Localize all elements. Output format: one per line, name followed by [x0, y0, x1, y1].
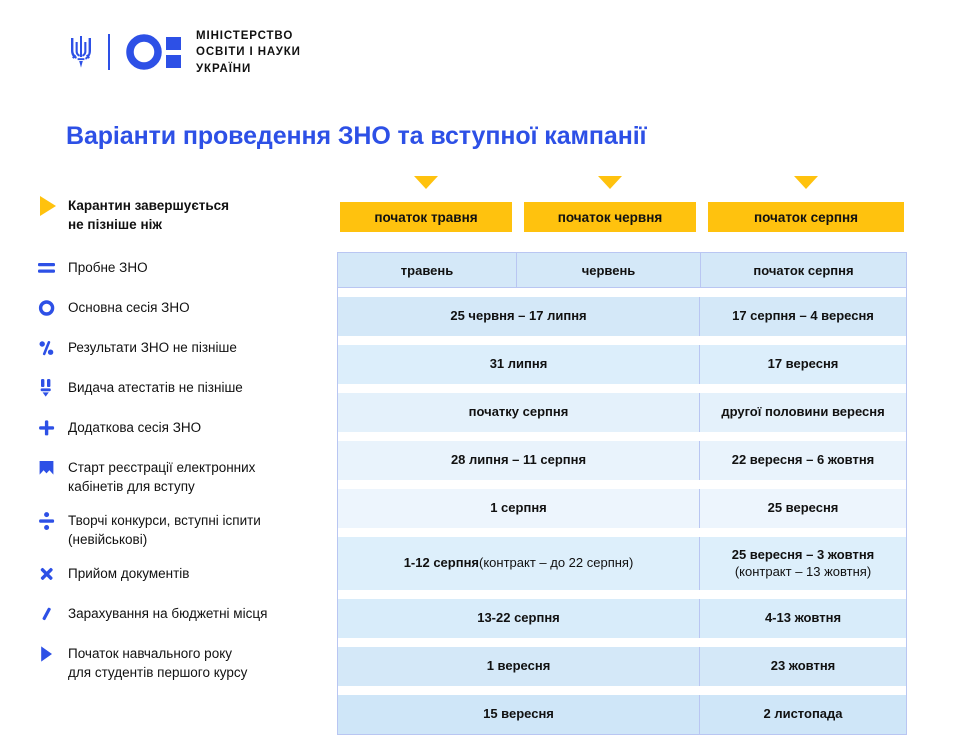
- row-spacer: [338, 288, 906, 297]
- legend-item-cabinet-registration[interactable]: Старт реєстрації електронних кабінетів д…: [38, 458, 330, 496]
- row-spacer: [338, 590, 906, 599]
- legend-item-results[interactable]: Результати ЗНО не пізніше: [38, 338, 330, 358]
- logo-divider: [108, 34, 110, 70]
- table-row: 13-22 серпня4-13 жовтня: [338, 599, 906, 638]
- legend-item-budget-enrollment[interactable]: Зарахування на бюджетні місця: [38, 604, 330, 624]
- legend-item-label: Основна сесія ЗНО: [68, 298, 190, 318]
- table-row: 1-12 серпня (контракт – до 22 серпня)25 …: [338, 537, 906, 590]
- cell-august: 2 листопада: [700, 695, 906, 734]
- row-spacer: [338, 480, 906, 489]
- column-header-june: червень: [517, 253, 700, 287]
- cell-may-june: 1 вересня: [338, 647, 700, 686]
- legend-item-certificates[interactable]: Видача атестатів не пізніше: [38, 378, 330, 398]
- legend-item-additional-session[interactable]: Додаткова сесія ЗНО: [38, 418, 330, 438]
- ministry-name: МІНІСТЕРСТВО ОСВІТИ І НАУКИ УКРАЇНИ: [196, 28, 301, 77]
- cell-august: 23 жовтня: [700, 647, 906, 686]
- legend-item-label: Додаткова сесія ЗНО: [68, 418, 201, 438]
- mon-emblem-icon: [126, 34, 182, 70]
- cell-may-june: початку серпня: [338, 393, 700, 432]
- legend-item-label: Початок навчального року для студентів п…: [68, 644, 247, 682]
- row-spacer: [338, 432, 906, 441]
- table-row: 1 вересня23 жовтня: [338, 647, 906, 686]
- table-header-row: травень червень початок серпня: [338, 253, 906, 288]
- legend-item-documents-intake[interactable]: Прийом документів: [38, 564, 330, 584]
- cell-may-june: 31 липня: [338, 345, 700, 384]
- cell-august: 25 вересня – 3 жовтня(контракт – 13 жовт…: [700, 537, 906, 590]
- legend-item-creative-exams[interactable]: Творчі конкурси, вступні іспити (невійсь…: [38, 511, 330, 549]
- cell-august: 17 вересня: [700, 345, 906, 384]
- legend-heading-label: Карантин завершується не пізніше ніж: [68, 196, 229, 234]
- row-spacer: [338, 638, 906, 647]
- table-row: 31 липня17 вересня: [338, 345, 906, 384]
- cell-august: другої половини вересня: [700, 393, 906, 432]
- scenario-button-june[interactable]: початок червня: [524, 202, 696, 232]
- table-body: 25 червня – 17 липня17 серпня – 4 вересн…: [338, 288, 906, 734]
- legend-item-trial-zno[interactable]: Пробне ЗНО: [38, 258, 330, 278]
- triangle-right-yellow-icon: [38, 196, 68, 216]
- table-row: 1 серпня25 вересня: [338, 489, 906, 528]
- flag-icon: [38, 458, 68, 478]
- column-header-august: початок серпня: [700, 253, 906, 287]
- percent-icon: [38, 338, 68, 358]
- legend-item-label: Старт реєстрації електронних кабінетів д…: [68, 458, 255, 496]
- legend-item-label: Творчі конкурси, вступні іспити (невійсь…: [68, 511, 261, 549]
- cell-august: 22 вересня – 6 жовтня: [700, 441, 906, 480]
- scenario-arrow-may: [414, 176, 438, 189]
- multiply-icon: [38, 564, 68, 584]
- legend-item-academic-year-start[interactable]: Початок навчального року для студентів п…: [38, 644, 330, 682]
- row-spacer: [338, 384, 906, 393]
- circle-icon: [38, 298, 68, 318]
- row-spacer: [338, 686, 906, 695]
- schedule-table: травень червень початок серпня 25 червня…: [337, 252, 907, 735]
- legend-item-label: Прийом документів: [68, 564, 189, 584]
- legend-item-label: Видача атестатів не пізніше: [68, 378, 243, 398]
- legend-item-label: Результати ЗНО не пізніше: [68, 338, 237, 358]
- triangle-right-icon: [38, 644, 68, 664]
- plus-icon: [38, 418, 68, 438]
- cell-may-june: 1 серпня: [338, 489, 700, 528]
- table-row: 15 вересня2 листопада: [338, 695, 906, 734]
- cell-august: 17 серпня – 4 вересня: [700, 297, 906, 336]
- cell-may-june: 1-12 серпня (контракт – до 22 серпня): [338, 537, 700, 590]
- legend-item-label: Пробне ЗНО: [68, 258, 148, 278]
- table-row: 28 липня – 11 серпня22 вересня – 6 жовтн…: [338, 441, 906, 480]
- slash-icon: [38, 604, 68, 624]
- cell-august: 4-13 жовтня: [700, 599, 906, 638]
- double-dagger-icon: [38, 378, 68, 398]
- scenario-arrow-august: [794, 176, 818, 189]
- cell-may-june: 28 липня – 11 серпня: [338, 441, 700, 480]
- page-title: Варіанти проведення ЗНО та вступної камп…: [66, 122, 647, 151]
- legend-item-main-session[interactable]: Основна сесія ЗНО: [38, 298, 330, 318]
- legend-item-label: Зарахування на бюджетні місця: [68, 604, 267, 624]
- ministry-logo: МІНІСТЕРСТВО ОСВІТИ І НАУКИ УКРАЇНИ: [68, 28, 301, 77]
- legend-heading-row: Карантин завершується не пізніше ніж: [38, 196, 330, 234]
- equals-icon: [38, 258, 68, 278]
- ukraine-trident-icon: [68, 35, 94, 69]
- scenario-button-may[interactable]: початок травня: [340, 202, 512, 232]
- row-spacer: [338, 528, 906, 537]
- cell-may-june: 13-22 серпня: [338, 599, 700, 638]
- scenario-button-august[interactable]: початок серпня: [708, 202, 904, 232]
- column-header-may: травень: [338, 253, 517, 287]
- table-row: 25 червня – 17 липня17 серпня – 4 вересн…: [338, 297, 906, 336]
- division-icon: [38, 511, 68, 531]
- scenario-arrow-june: [598, 176, 622, 189]
- cell-may-june: 15 вересня: [338, 695, 700, 734]
- cell-may-june: 25 червня – 17 липня: [338, 297, 700, 336]
- table-row: початку серпнядругої половини вересня: [338, 393, 906, 432]
- row-spacer: [338, 336, 906, 345]
- cell-august: 25 вересня: [700, 489, 906, 528]
